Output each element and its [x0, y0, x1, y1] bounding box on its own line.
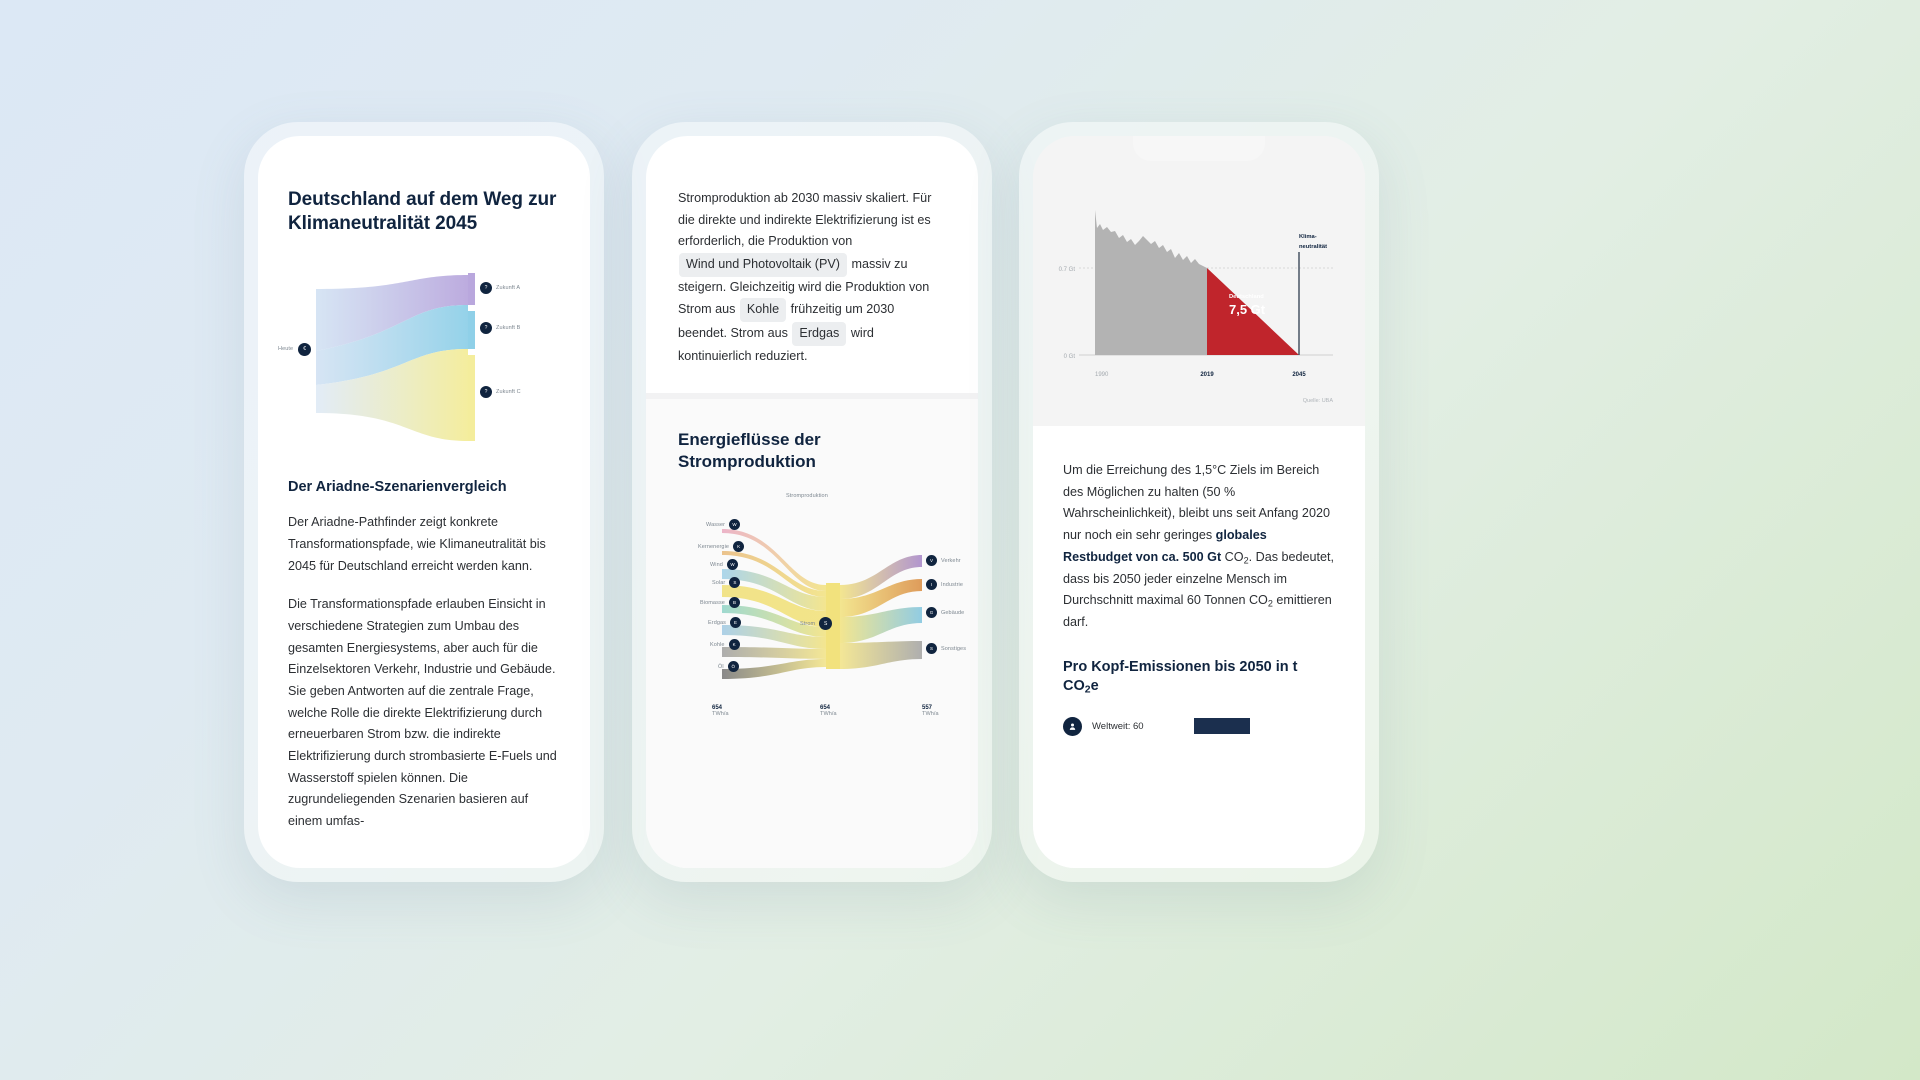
total-0: 654 TWh/a — [712, 705, 729, 717]
phone1-sankey-chart: Heute € ? Zukunft A ? Zukunft B ? — [258, 263, 590, 448]
phone2-intro-area: Stromproduktion ab 2030 massiv skaliert.… — [646, 136, 978, 393]
emissions-chart-svg: 0.7 Gt 0 Gt 1990 2019 2045 Deutschland 7… — [1033, 180, 1365, 426]
node-label: Wind — [710, 562, 723, 568]
sankey-left-node-3[interactable]: Solar S — [712, 577, 740, 588]
svg-text:Klima-: Klima- — [1299, 234, 1317, 240]
intro-text-1: Stromproduktion ab 2030 massiv skaliert.… — [678, 191, 931, 248]
sankey-target-label: Zukunft A — [496, 285, 520, 291]
svg-text:Quelle: UBA: Quelle: UBA — [1303, 398, 1334, 404]
node-circle: G — [926, 607, 937, 618]
budget-paragraph: Um die Erreichung des 1,5°C Ziels im Ber… — [1063, 460, 1335, 634]
keyword-chip-erdgas[interactable]: Erdgas — [792, 322, 846, 346]
node-label: Industrie — [941, 582, 963, 588]
section-title: Der Ariadne-Szenarienvergleich — [288, 478, 560, 497]
phone2-notch — [753, 136, 871, 161]
node-circle: S — [819, 617, 832, 630]
node-label: Sonstiges — [941, 646, 966, 652]
sankey-right-node-3[interactable]: S Sonstiges — [926, 643, 966, 654]
svg-text:Deutschland: Deutschland — [1229, 294, 1264, 300]
sankey-left-node-6[interactable]: Kohle K — [710, 639, 740, 650]
budget-text-1: Um die Erreichung des 1,5°C Ziels im Ber… — [1063, 463, 1330, 542]
node-circle: Ö — [728, 661, 739, 672]
svg-text:7,5 Gt: 7,5 Gt — [1229, 302, 1266, 317]
node-circle: S — [926, 643, 937, 654]
sankey-left-node-7[interactable]: Öl Ö — [718, 661, 739, 672]
sankey-target-label: Zukunft B — [496, 325, 520, 331]
sankey-left-node-2[interactable]: Wind W — [710, 559, 738, 570]
node-circle: V — [926, 555, 937, 566]
node-label: Strom — [800, 621, 815, 627]
sankey-node-circle: ? — [480, 282, 492, 294]
sankey-source-label: Heute — [278, 346, 293, 352]
phone3-notch — [1140, 136, 1258, 161]
sankey-node-circle: ? — [480, 386, 492, 398]
node-circle: K — [733, 541, 744, 552]
chart-title: Energieflüsse der Stromproduktion — [678, 429, 946, 473]
phone2-chart-section: Energieflüsse der Stromproduktion Stromp… — [646, 399, 978, 868]
per-capita-section-title: Pro Kopf-Emissionen bis 2050 in t CO2e — [1063, 658, 1335, 697]
chart-caption: Stromproduktion — [786, 493, 828, 499]
node-label: Öl — [718, 664, 724, 670]
sankey-right-node-2[interactable]: G Gebäude — [926, 607, 964, 618]
phone-mockup-3: 0.7 Gt 0 Gt 1990 2019 2045 Deutschland 7… — [1019, 122, 1379, 882]
per-capita-bar — [1194, 718, 1250, 734]
phone1-notch — [365, 136, 483, 161]
node-circle: W — [727, 559, 738, 570]
phone3-emissions-chart: 0.7 Gt 0 Gt 1990 2019 2045 Deutschland 7… — [1033, 136, 1365, 426]
total-unit: TWh/a — [922, 711, 939, 717]
sankey-left-node-0[interactable]: Wasser W — [706, 519, 740, 530]
phone-mockup-2: Stromproduktion ab 2030 massiv skaliert.… — [632, 122, 992, 882]
sankey-target-label: Zukunft C — [496, 389, 521, 395]
sankey-node-circle: € — [298, 343, 311, 356]
node-label: Kernenergie — [698, 544, 729, 550]
node-circle: B — [729, 597, 740, 608]
sankey-target-a[interactable]: ? Zukunft A — [480, 282, 520, 294]
sankey-center-node[interactable]: Strom S — [800, 617, 832, 630]
total-unit: TWh/a — [712, 711, 729, 717]
person-icon — [1063, 717, 1082, 736]
paragraph-2: Die Transformationspfade erlauben Einsic… — [288, 594, 560, 832]
svg-text:1990: 1990 — [1095, 372, 1109, 378]
intro-paragraph: Stromproduktion ab 2030 massiv skaliert.… — [678, 188, 946, 367]
phone1-body-area: Der Ariadne-Szenarienvergleich Der Ariad… — [258, 478, 590, 833]
node-label: Kohle — [710, 642, 725, 648]
node-circle: K — [729, 639, 740, 650]
phone1-screen: Deutschland auf dem Weg zur Klimaneutral… — [258, 136, 590, 868]
total-unit: TWh/a — [820, 711, 837, 717]
node-label: Biomasse — [700, 600, 725, 606]
node-circle: W — [729, 519, 740, 530]
node-label: Solar — [712, 580, 725, 586]
page-title: Deutschland auf dem Weg zur Klimaneutral… — [288, 188, 560, 237]
per-capita-row-weltweit: Weltweit: 60 — [1063, 717, 1335, 736]
phone3-body-area: Um die Erreichung des 1,5°C Ziels im Ber… — [1033, 426, 1365, 868]
sankey-left-node-4[interactable]: Biomasse B — [700, 597, 740, 608]
node-circle: S — [729, 577, 740, 588]
sankey-left-node-5[interactable]: Erdgas E — [708, 617, 741, 628]
svg-text:2045: 2045 — [1292, 372, 1306, 378]
sankey-right-node-1[interactable]: I Industrie — [926, 579, 963, 590]
phone2-screen: Stromproduktion ab 2030 massiv skaliert.… — [646, 136, 978, 868]
node-label: Verkehr — [941, 558, 961, 564]
svg-text:0 Gt: 0 Gt — [1064, 354, 1076, 360]
node-label: Erdgas — [708, 620, 726, 626]
node-label: Gebäude — [941, 610, 964, 616]
svg-text:2019: 2019 — [1200, 372, 1214, 378]
svg-text:neutralität: neutralität — [1299, 244, 1327, 250]
node-label: Wasser — [706, 522, 725, 528]
sankey-left-node-1[interactable]: Kernenergie K — [698, 541, 744, 552]
paragraph-1: Der Ariadne-Pathfinder zeigt konkrete Tr… — [288, 512, 560, 577]
sankey-target-b[interactable]: ? Zukunft B — [480, 322, 520, 334]
per-capita-label: Weltweit: 60 — [1092, 721, 1184, 732]
node-circle: I — [926, 579, 937, 590]
keyword-chip-kohle[interactable]: Kohle — [740, 298, 786, 322]
phone3-screen: 0.7 Gt 0 Gt 1990 2019 2045 Deutschland 7… — [1033, 136, 1365, 868]
sankey-target-c[interactable]: ? Zukunft C — [480, 386, 521, 398]
phone2-sankey-chart: Stromproduktion — [678, 507, 946, 767]
phone-mockup-1: Deutschland auf dem Weg zur Klimaneutral… — [244, 122, 604, 882]
sankey-node-circle: ? — [480, 322, 492, 334]
total-1: 654 TWh/a — [820, 705, 837, 717]
svg-text:0.7 Gt: 0.7 Gt — [1059, 267, 1076, 273]
sankey-source-node[interactable]: Heute € — [278, 343, 311, 356]
total-2: 557 TWh/a — [922, 705, 939, 717]
node-circle: E — [730, 617, 741, 628]
keyword-chip-wind-pv[interactable]: Wind und Photovoltaik (PV) — [679, 253, 847, 277]
sankey-right-node-0[interactable]: V Verkehr — [926, 555, 961, 566]
